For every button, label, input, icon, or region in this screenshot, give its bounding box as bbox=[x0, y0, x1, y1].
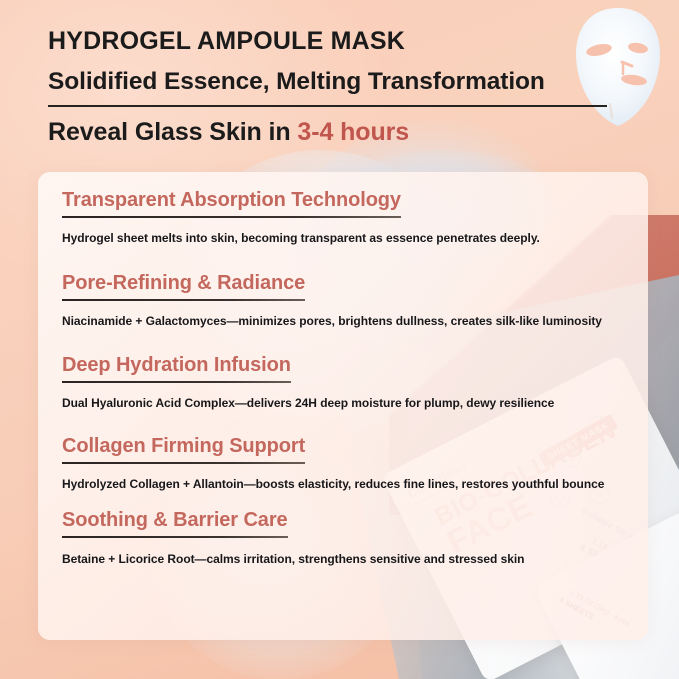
feature-description: Hydrolyzed Collagen + Allantoin—boosts e… bbox=[62, 477, 630, 493]
feature-description: Niacinamide + Galactomyces—minimizes por… bbox=[62, 314, 630, 330]
page-title: HYDROGEL AMPOULE MASK bbox=[48, 28, 628, 56]
feature-item: Collagen Firming Support Hydrolyzed Coll… bbox=[62, 434, 630, 493]
feature-title: Soothing & Barrier Care bbox=[62, 508, 288, 538]
headline-divider bbox=[48, 105, 607, 107]
headline-promise: Reveal Glass Skin in 3-4 hours bbox=[48, 119, 628, 147]
promise-accent: 3-4 hours bbox=[297, 118, 409, 146]
feature-item: Deep Hydration Infusion Dual Hyaluronic … bbox=[62, 353, 630, 412]
feature-list: Transparent Absorption Technology Hydrog… bbox=[62, 188, 630, 568]
promise-prefix: Reveal Glass Skin in bbox=[48, 118, 297, 146]
feature-item: Pore-Refining & Radiance Niacinamide + G… bbox=[62, 271, 630, 330]
product-infographic: ConfidMiss BIO-COLLAGEN FACE SHEET MASK … bbox=[0, 0, 679, 679]
feature-card: Transparent Absorption Technology Hydrog… bbox=[38, 172, 648, 640]
headline-block: HYDROGEL AMPOULE MASK Solidified Essence… bbox=[48, 28, 628, 147]
feature-item: Soothing & Barrier Care Betaine + Licori… bbox=[62, 508, 630, 568]
feature-description: Dual Hyaluronic Acid Complex—delivers 24… bbox=[62, 396, 630, 412]
feature-title: Deep Hydration Infusion bbox=[62, 353, 291, 383]
feature-item: Transparent Absorption Technology Hydrog… bbox=[62, 188, 630, 247]
headline-subtitle: Solidified Essence, Melting Transformati… bbox=[48, 69, 628, 96]
feature-description: Betaine + Licorice Root—calms irritation… bbox=[62, 552, 630, 568]
feature-description: Hydrogel sheet melts into skin, becoming… bbox=[62, 231, 630, 247]
feature-title: Pore-Refining & Radiance bbox=[62, 271, 305, 301]
feature-title: Transparent Absorption Technology bbox=[62, 188, 401, 218]
feature-title: Collagen Firming Support bbox=[62, 434, 305, 464]
